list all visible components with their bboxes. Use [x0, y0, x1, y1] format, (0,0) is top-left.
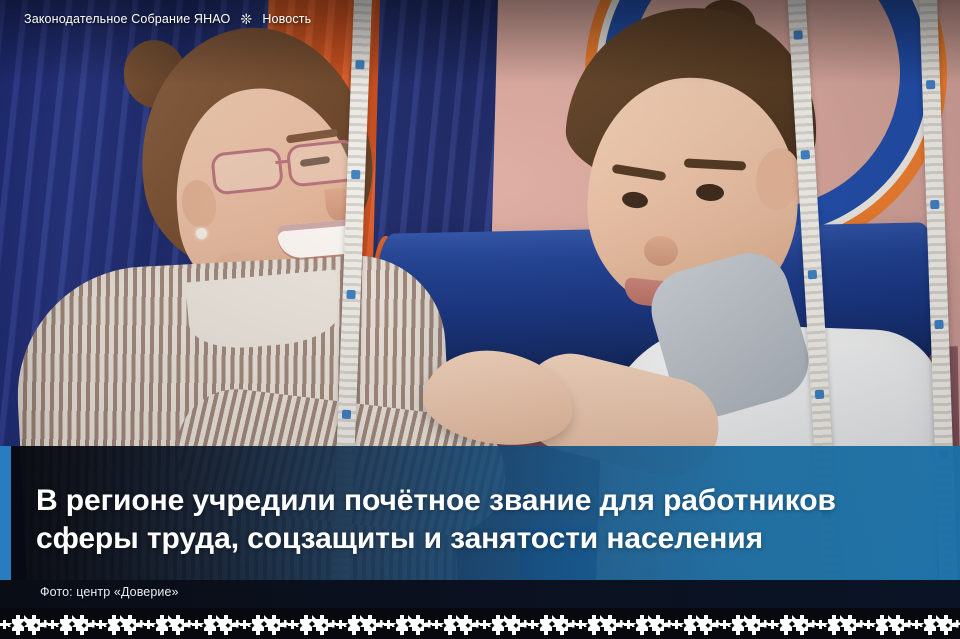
- snowflake-icon: ❊: [239, 12, 253, 26]
- folk-ornament-icon: [0, 608, 960, 639]
- kicker-source[interactable]: Законодательное Собрание ЯНАО: [24, 12, 230, 26]
- headline-line-2: сферы труда, соцзащиты и занятости насел…: [36, 522, 763, 555]
- kicker-category[interactable]: Новость: [262, 12, 311, 26]
- folk-ornament-footer: [0, 608, 960, 639]
- news-card: Законодательное Собрание ЯНАО ❊ Новость …: [0, 0, 960, 639]
- headline-accent-bar: [0, 446, 11, 580]
- page-title: В регионе учредили почётное звание для р…: [36, 482, 936, 558]
- headline-line-1: В регионе учредили почётное звание для р…: [36, 484, 836, 517]
- woman-earring: [196, 228, 207, 239]
- photo-credit: Фото: центр «Доверие»: [40, 585, 179, 599]
- kicker: Законодательное Собрание ЯНАО ❊ Новость: [24, 12, 311, 26]
